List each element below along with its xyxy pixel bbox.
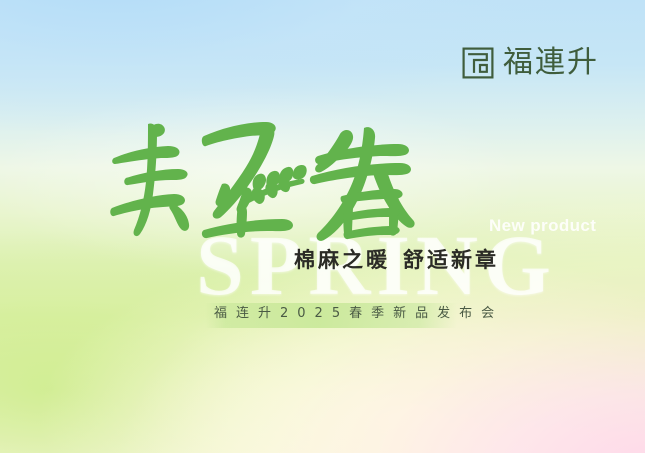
fulian-seal-mark-icon [461,46,495,80]
footer-strip-text: 福连升2025春季新品发布会 [214,307,503,320]
headline-calligraphy [104,112,424,244]
new-product-label: New product [489,217,596,234]
brand-logo: 福連升 [461,46,599,80]
subtitle: 棉麻之暖舒适新章 [294,248,499,271]
subtitle-part-one: 棉麻之暖 [294,247,390,272]
spring-launch-poster: SPRING 福連升 [0,0,645,453]
brand-logo-text: 福連升 [503,48,599,78]
subtitle-part-two: 舒适新章 [403,247,499,272]
